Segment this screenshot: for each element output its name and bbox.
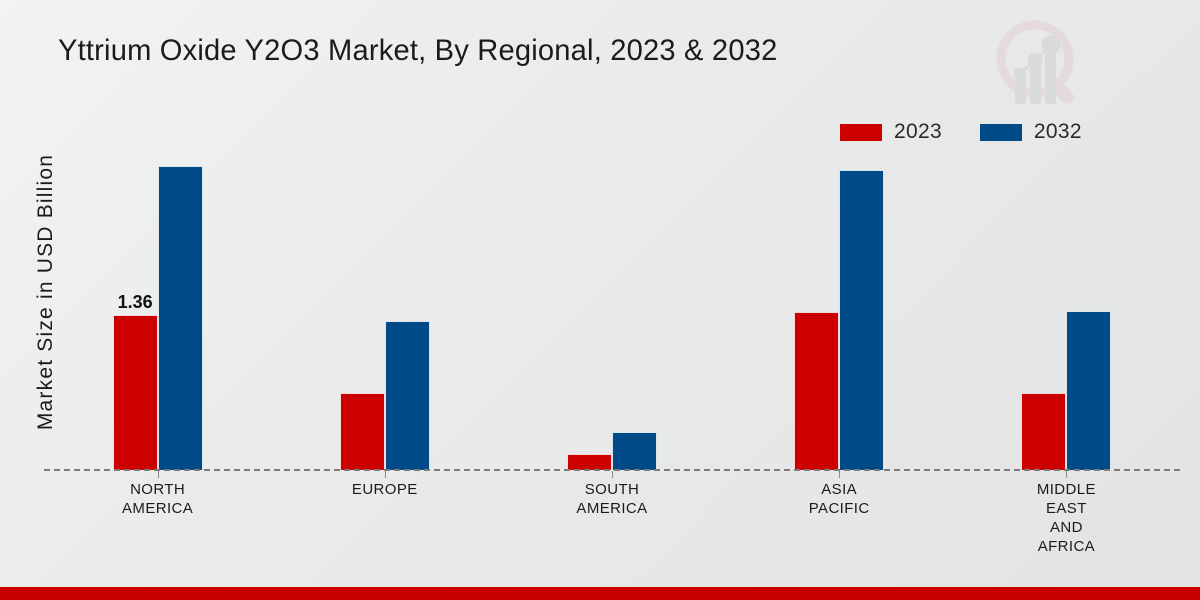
bar-group (340, 140, 430, 470)
plot-area: 1.36NORTHAMERICAEUROPESOUTHAMERICAASIAPA… (44, 140, 1180, 470)
bar-group-bars (567, 140, 657, 470)
x-axis-category-label: EUROPE (300, 480, 470, 499)
chart-title: Yttrium Oxide Y2O3 Market, By Regional, … (58, 34, 777, 68)
bar-group-bars: 1.36 (113, 140, 203, 470)
footer-accent-bar (0, 587, 1200, 600)
bar-group-bars (794, 140, 884, 470)
bar-group (794, 140, 884, 470)
bar-2023-asia-pacific[interactable] (794, 312, 839, 470)
chart-page: Yttrium Oxide Y2O3 Market, By Regional, … (0, 0, 1200, 600)
x-axis-category-label: MIDDLEEASTANDAFRICA (981, 480, 1151, 556)
bar-group-bars (340, 140, 430, 470)
bar-group (567, 140, 657, 470)
x-axis-category-label: SOUTHAMERICA (527, 480, 697, 518)
x-axis-tick (839, 471, 840, 478)
legend-swatch-2032 (980, 124, 1022, 141)
bar-2032-middle-east-and-africa[interactable] (1066, 311, 1111, 470)
bar-2023-middle-east-and-africa[interactable] (1021, 393, 1066, 470)
bar-2023-north-america[interactable]: 1.36 (113, 315, 158, 470)
x-axis-tick (1066, 471, 1067, 478)
bar-value-label: 1.36 (118, 292, 153, 313)
bar-2032-north-america[interactable] (158, 166, 203, 470)
x-axis-baseline (44, 469, 1180, 471)
watermark-logo-icon (985, 12, 1093, 112)
x-axis-tick (385, 471, 386, 478)
bar-2032-europe[interactable] (385, 321, 430, 470)
legend-swatch-2023 (840, 124, 882, 141)
x-axis-category-label: NORTHAMERICA (73, 480, 243, 518)
bar-2032-south-america[interactable] (612, 432, 657, 470)
x-axis-category-label: ASIAPACIFIC (754, 480, 924, 518)
bar-2032-asia-pacific[interactable] (839, 170, 884, 470)
bar-2023-europe[interactable] (340, 393, 385, 470)
x-axis-tick (158, 471, 159, 478)
bar-2023-south-america[interactable] (567, 454, 612, 470)
bar-group (1021, 140, 1111, 470)
bar-group-bars (1021, 140, 1111, 470)
x-axis-tick (612, 471, 613, 478)
bar-group: 1.36 (113, 140, 203, 470)
